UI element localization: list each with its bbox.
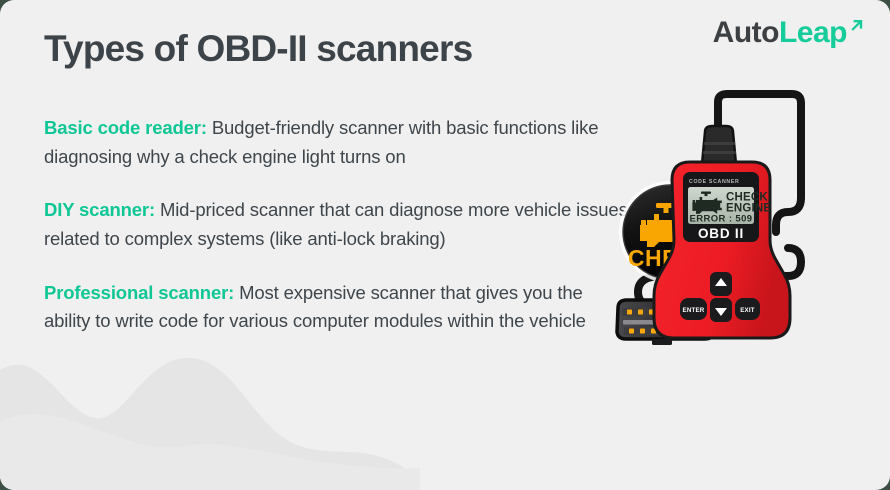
brand-logo: AutoLeap (713, 18, 864, 48)
arrow-up-right-icon (848, 12, 864, 42)
scanner-device: CODE SCANNER CHECK ENGINE ERROR : 509 OB… (654, 126, 790, 338)
paragraph-lead: Basic code reader: (44, 117, 207, 138)
paragraph-basic-code-reader: Basic code reader: Budget-friendly scann… (44, 114, 630, 171)
exit-button[interactable]: EXIT (735, 298, 760, 320)
brand-name-auto: Auto (713, 16, 779, 49)
infographic-card: AutoLeap Types of OBD-II scanners Basic … (0, 0, 890, 490)
up-button[interactable] (710, 272, 732, 296)
brand-name-leap: Leap (779, 16, 847, 49)
background-wave-decoration (0, 330, 420, 490)
paragraph-lead: DIY scanner: (44, 199, 155, 220)
enter-button-label: ENTER (683, 307, 705, 314)
scanner-model-label: OBD II (698, 226, 744, 241)
down-button[interactable] (710, 298, 732, 322)
exit-button-label: EXIT (740, 307, 755, 314)
body-copy: Basic code reader: Budget-friendly scann… (44, 114, 630, 336)
page-title: Types of OBD-II scanners (44, 28, 472, 71)
obd-ii-scanner-illustration: CHECK (600, 80, 890, 370)
scanner-brand-label: CODE SCANNER (689, 179, 739, 185)
screen-error-line: ERROR : 509 (689, 214, 752, 225)
enter-button[interactable]: ENTER (680, 298, 707, 320)
paragraph-lead: Professional scanner: (44, 282, 234, 303)
paragraph-professional-scanner: Professional scanner: Most expensive sca… (44, 279, 630, 336)
paragraph-diy-scanner: DIY scanner: Mid-priced scanner that can… (44, 196, 630, 253)
